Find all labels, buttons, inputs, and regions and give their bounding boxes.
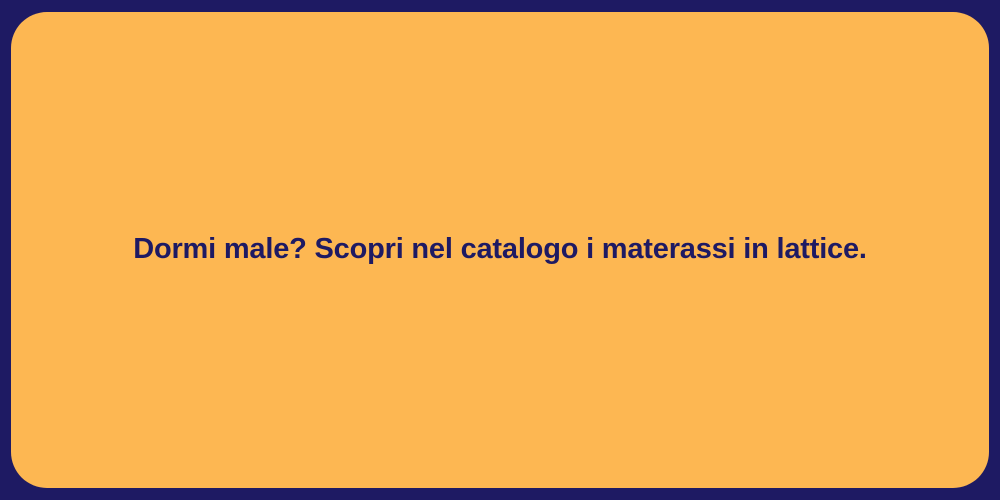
banner-frame: Dormi male? Scopri nel catalogo i matera… — [0, 0, 1000, 500]
banner-headline: Dormi male? Scopri nel catalogo i matera… — [109, 234, 891, 266]
banner-card[interactable]: Dormi male? Scopri nel catalogo i matera… — [11, 12, 989, 488]
